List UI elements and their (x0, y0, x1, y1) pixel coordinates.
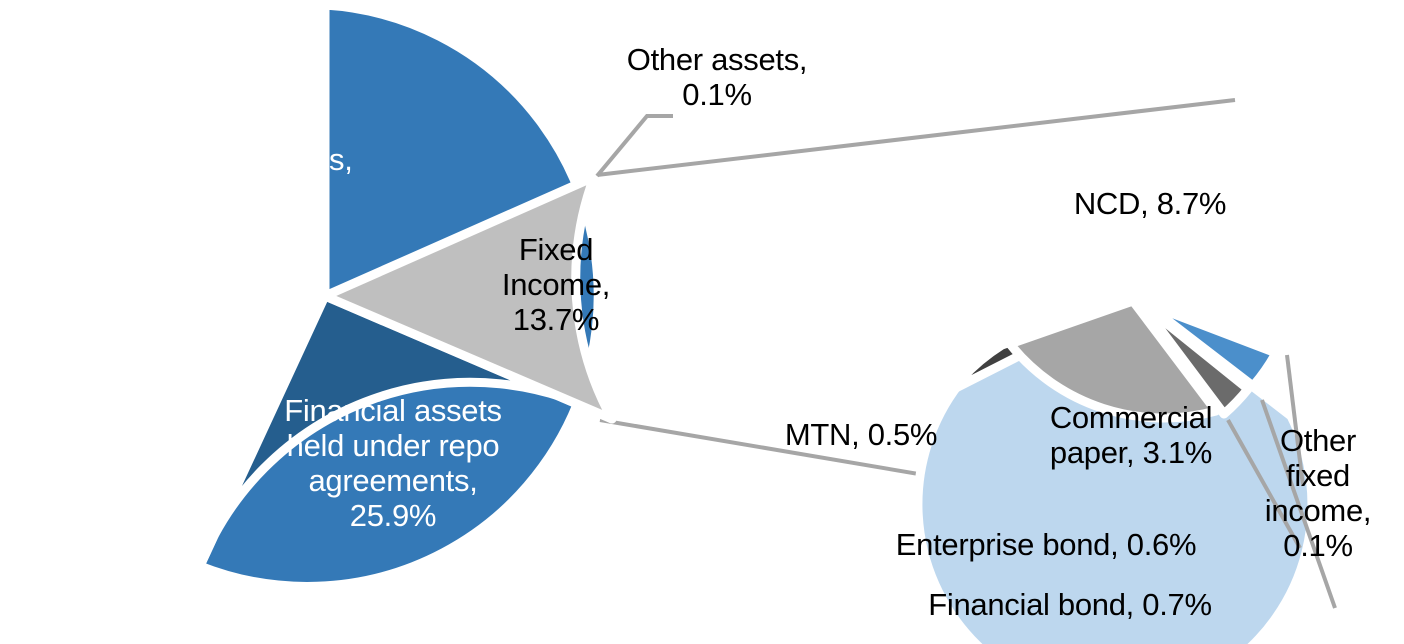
label-bank-deposits: Bank deposits, 60.3% (133, 142, 373, 212)
label-enterprise-bond: Enterprise bond, 0.6% (874, 527, 1218, 562)
label-financial-bond: Financial bond, 0.7% (900, 587, 1240, 622)
label-repo-agreements: Financial assets held under repo agreeme… (258, 393, 528, 533)
label-mtn: MTN, 0.5% (766, 417, 956, 452)
label-commercial-paper: Commercial paper, 3.1% (1033, 400, 1229, 470)
label-ncd: NCD, 8.7% (1055, 186, 1245, 221)
chart-canvas: Bank deposits, 60.3% Financial assets he… (0, 0, 1404, 644)
label-other-fixed-income: Other fixed income, 0.1% (1258, 423, 1378, 563)
label-fixed-income: Fixed Income, 13.7% (483, 232, 629, 337)
label-other-assets: Other assets, 0.1% (597, 42, 837, 112)
